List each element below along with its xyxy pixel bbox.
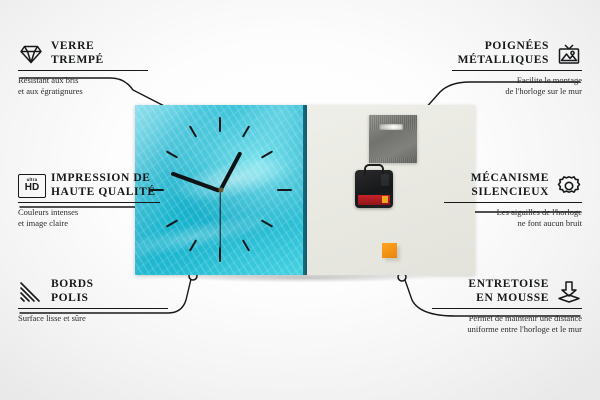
battery [358, 195, 390, 205]
feature-description: Les aiguilles de l'horloge ne font aucun… [444, 207, 582, 229]
second-hand [219, 190, 220, 248]
battery-plus-terminal [382, 196, 388, 203]
feature-title: ENTRETOISE EN MOUSSE [468, 278, 549, 305]
infographic-canvas: VERRE TREMPÉ Résistant aux bris et aux é… [0, 0, 600, 400]
foam-spacer [382, 243, 397, 258]
ultra-hd-main-label: HD [25, 183, 39, 193]
press-down-pad-icon [556, 280, 582, 304]
feature-title: VERRE TREMPÉ [51, 40, 104, 67]
feature-title: BORDS POLIS [51, 278, 94, 305]
feature-impression-haute-qualite: ultra HD IMPRESSION DE HAUTE QUALITÉ Cou… [18, 172, 160, 229]
hanging-frame-icon [556, 42, 582, 66]
feature-verre-trempe: VERRE TREMPÉ Résistant aux bris et aux é… [18, 40, 148, 97]
feature-description: Facilite le montage de l'horloge sur le … [452, 75, 582, 97]
gear-icon [556, 174, 582, 198]
product-photo [135, 105, 475, 277]
feature-description: Résistant aux bris et aux égratignures [18, 75, 148, 97]
clock-front-face [135, 105, 307, 275]
hanger-slot [379, 124, 403, 130]
feature-title: IMPRESSION DE HAUTE QUALITÉ [51, 172, 156, 199]
feature-poignees-metalliques: POIGNÉES MÉTALLIQUES Facilite le montage… [452, 40, 582, 97]
metal-hanger-plate [369, 115, 417, 163]
diamond-icon [18, 42, 44, 66]
clock-hand-hub [219, 188, 224, 193]
feature-description: Surface lisse et sûre [18, 313, 168, 324]
movement-vent [381, 174, 389, 186]
polished-edge-icon [18, 280, 44, 304]
feature-rule [444, 202, 582, 203]
feature-rule [18, 70, 148, 71]
feature-title: MÉCANISME SILENCIEUX [471, 172, 549, 199]
feature-rule [18, 202, 160, 203]
quartz-movement-box [355, 170, 393, 208]
feature-title: POIGNÉES MÉTALLIQUES [458, 40, 549, 67]
feature-description: Couleurs intenses et image claire [18, 207, 160, 229]
ultra-hd-icon: ultra HD [18, 174, 44, 198]
clock-tick [277, 189, 292, 191]
feature-rule [432, 308, 582, 309]
feature-bords-polis: BORDS POLIS Surface lisse et sûre [18, 278, 168, 324]
feature-mecanisme-silencieux: MÉCANISME SILENCIEUX Les aiguilles de l'… [444, 172, 582, 229]
feature-description: Permet de maintenir une distance uniform… [432, 313, 582, 335]
feature-rule [452, 70, 582, 71]
clock-tick [219, 117, 221, 132]
feature-entretoise-en-mousse: ENTRETOISE EN MOUSSE Permet de maintenir… [432, 278, 582, 335]
feature-rule [18, 308, 168, 309]
clock-tick [219, 247, 221, 262]
